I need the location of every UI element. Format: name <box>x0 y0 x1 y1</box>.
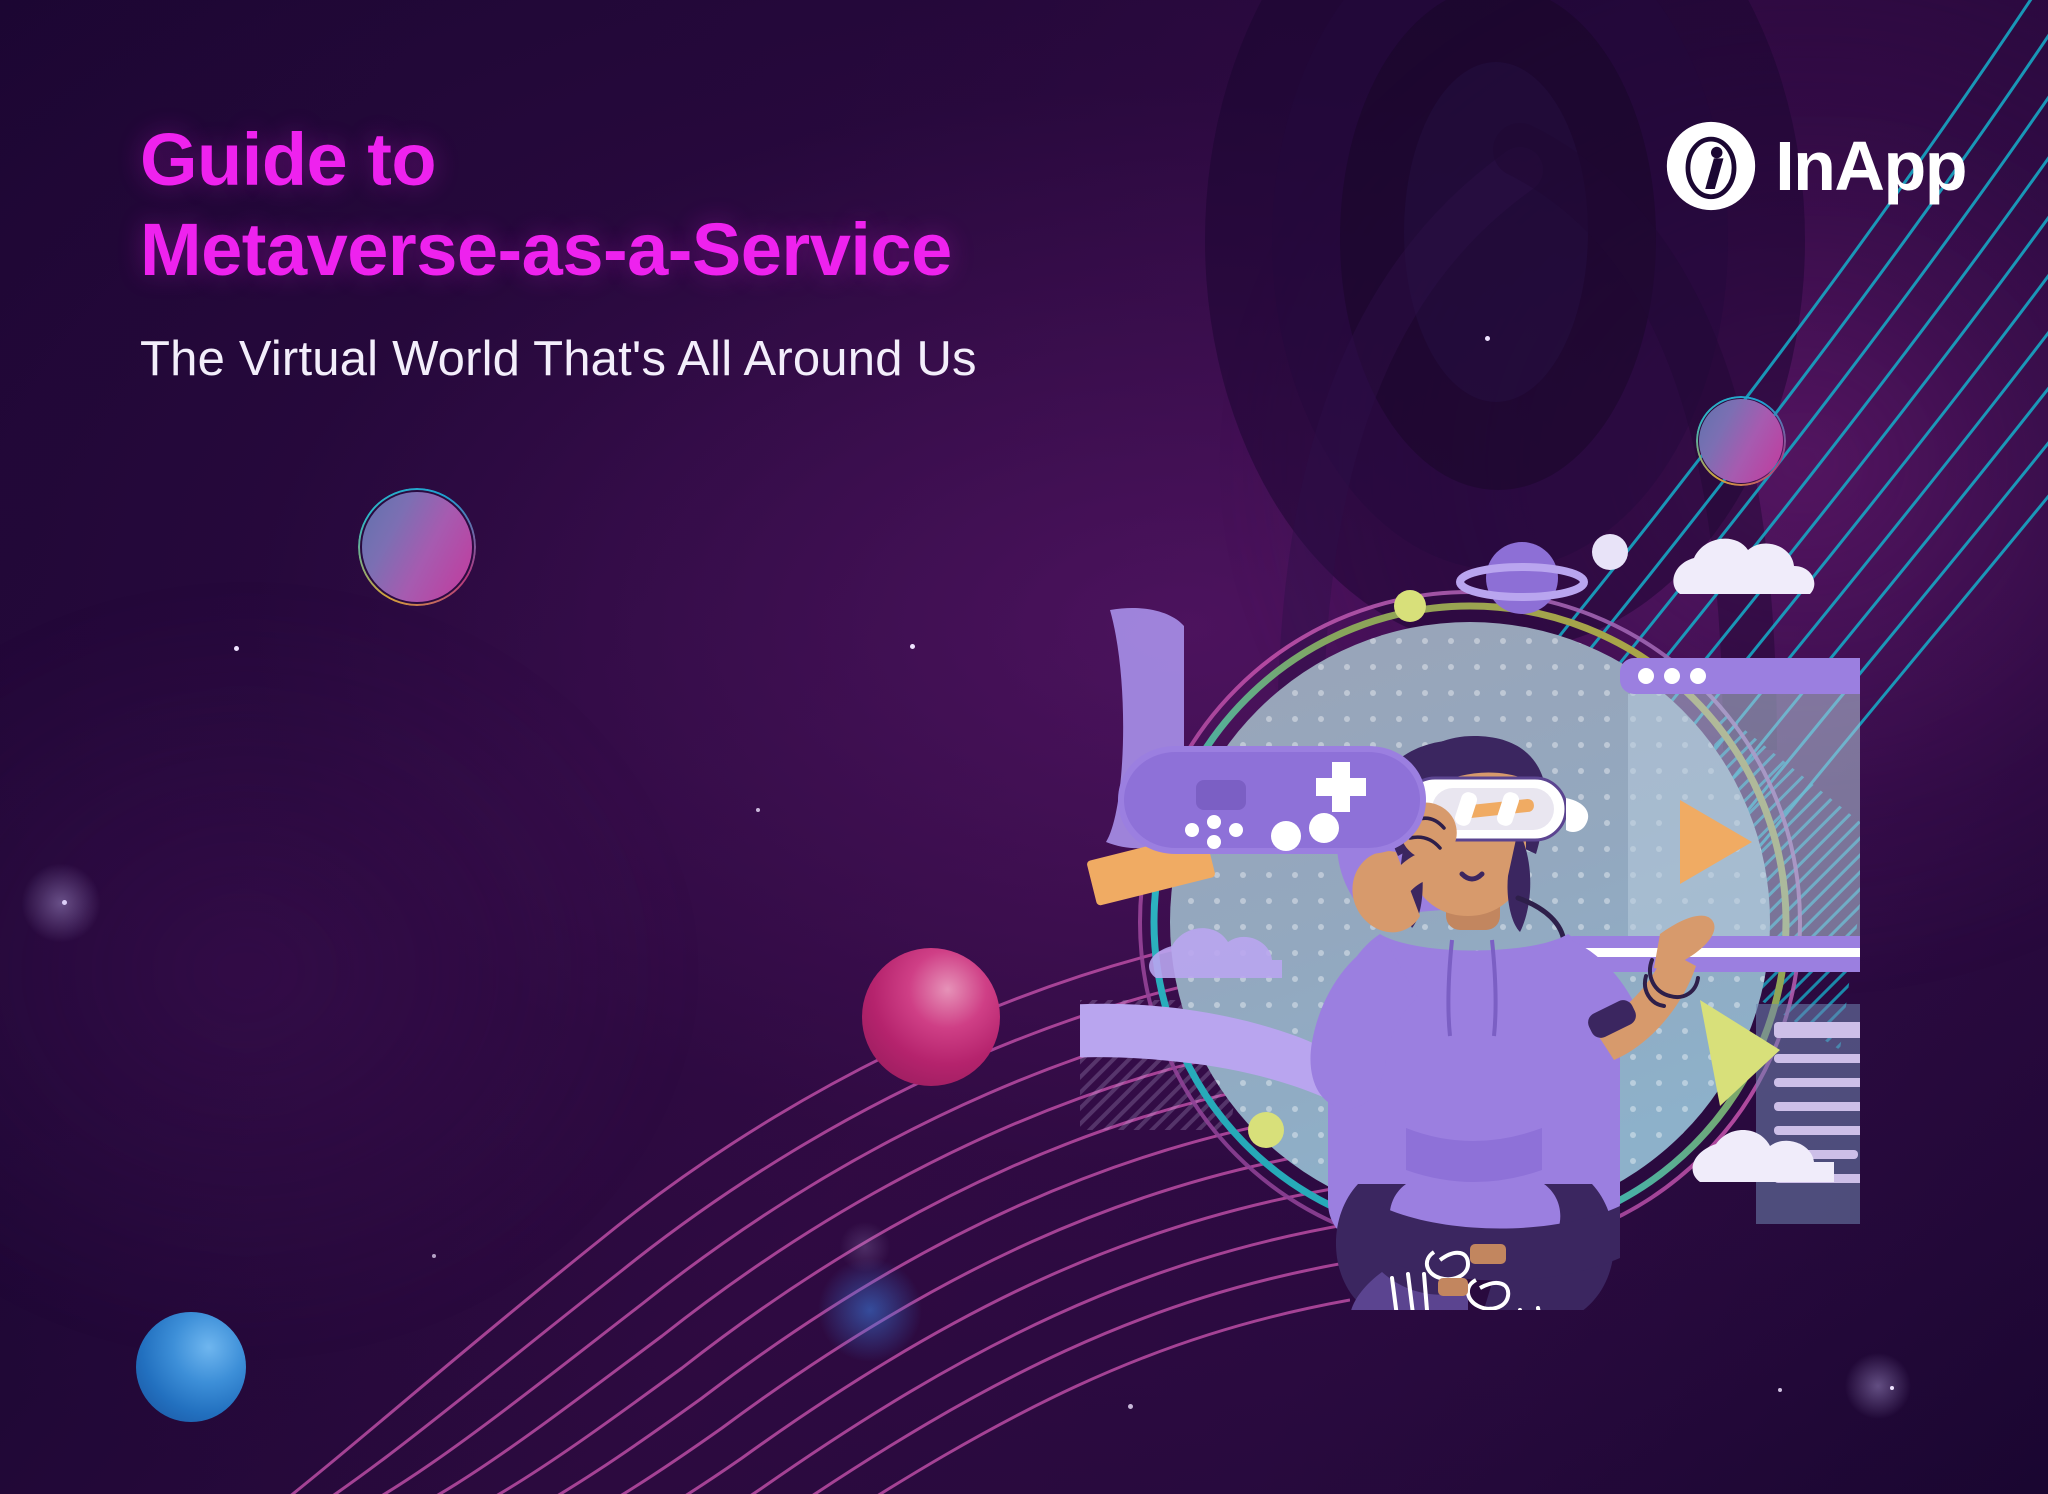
star-dot <box>234 646 239 651</box>
blue-sphere <box>136 1312 246 1422</box>
yellow-dot <box>1394 590 1426 622</box>
yellow-dot <box>1248 1112 1284 1148</box>
star-dot <box>910 644 915 649</box>
gamepad-icon <box>1118 746 1426 854</box>
page-title: Guide to Metaverse-as-a-Service <box>140 115 1340 296</box>
crimson-sphere <box>862 948 1000 1086</box>
browser-window-icon <box>1620 658 1860 954</box>
page-subtitle: The Virtual World That's All Around Us <box>140 330 1340 389</box>
star-dot <box>1778 1388 1782 1392</box>
moon-icon <box>1592 534 1628 570</box>
title-block: Guide to Metaverse-as-a-Service The Virt… <box>140 115 1340 388</box>
gradient-sphere-left <box>358 488 476 606</box>
star-glow <box>1832 1340 1924 1432</box>
star-dot <box>1890 1386 1894 1390</box>
cover-page: Guide to Metaverse-as-a-Service The Virt… <box>0 0 2048 1494</box>
star-dot <box>756 808 760 812</box>
vr-user-illustration <box>1080 530 1860 1310</box>
star-dot <box>432 1254 436 1258</box>
code-panel-icon <box>1756 1004 1860 1224</box>
star-dot <box>1128 1404 1133 1409</box>
star-dot <box>1485 336 1490 341</box>
logo-wordmark: InApp <box>1775 131 1966 201</box>
star-glow <box>830 1212 900 1282</box>
inapp-i-swirl-icon <box>1663 118 1759 214</box>
cloud-icon <box>1673 539 1814 594</box>
star-glow <box>6 848 116 958</box>
gradient-sphere-top-right <box>1696 396 1786 486</box>
inapp-logo[interactable]: InApp <box>1663 118 1966 214</box>
